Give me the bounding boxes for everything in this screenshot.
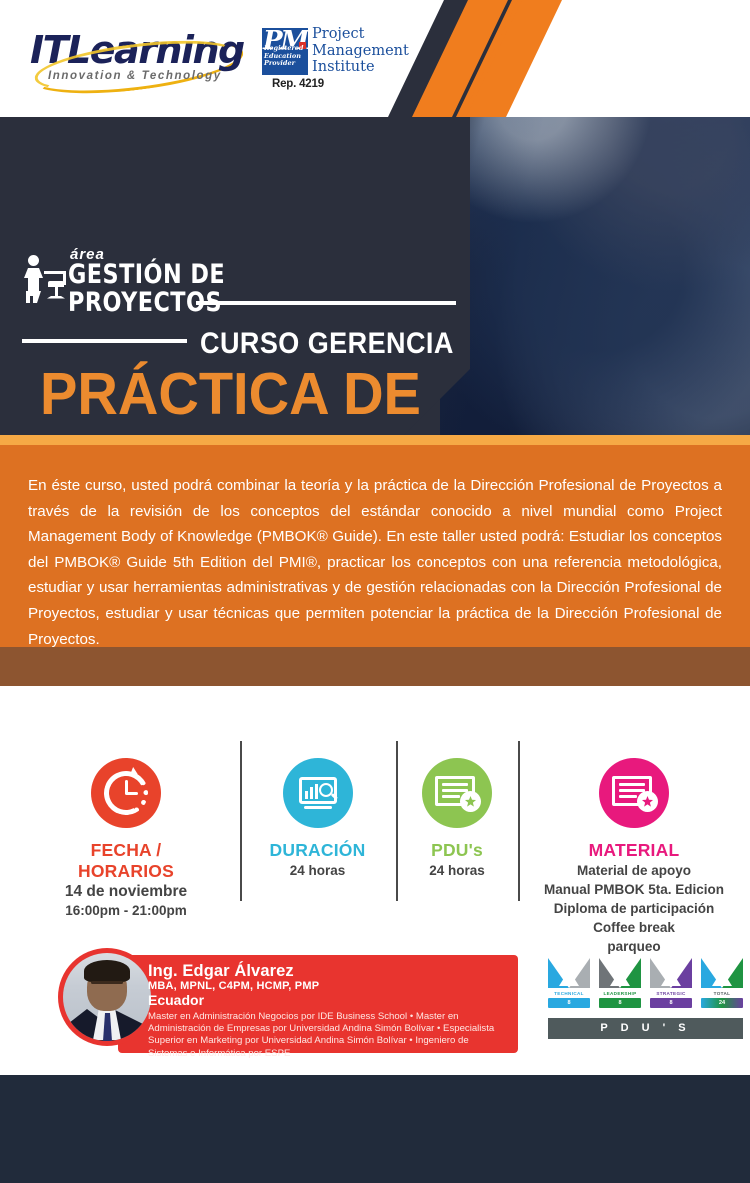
info-title-pdus: PDU's xyxy=(402,840,512,861)
hero-divider-top xyxy=(196,301,456,305)
pdu-badge-total: TOTAL 24 xyxy=(701,958,743,1008)
certificate-icon xyxy=(422,758,492,828)
course-title-line2: PROYECTOS xyxy=(40,427,391,435)
star-icon xyxy=(465,796,476,807)
course-title-line1: PRÁCTICA DE xyxy=(40,364,421,424)
pdu-label-strategic: STRATEGIC xyxy=(650,991,692,996)
info-column-duracion: DURACIÓN 24 horas xyxy=(245,758,390,880)
info-line-duracion: 24 horas xyxy=(245,861,390,880)
info-line-date: 14 de noviembre xyxy=(46,882,206,901)
material-line-3: Diploma de participación xyxy=(525,899,743,918)
pdu-value-strategic: 8 xyxy=(650,998,692,1008)
info-title-fecha: FECHA / HORARIOS xyxy=(46,840,206,882)
area-name: GESTIÓN DE PROYECTOS xyxy=(68,261,225,317)
triangle-icon-total xyxy=(701,958,743,988)
instructor-bio: Master en Administración Negocios por ID… xyxy=(148,1011,500,1060)
description-band: En éste curso, usted podrá combinar la t… xyxy=(0,445,750,647)
pmi-rep-number: Rep. 4219 xyxy=(272,78,324,90)
info-title-material: MATERIAL xyxy=(525,840,743,861)
triangle-icon-leadership xyxy=(599,958,641,988)
material-line-5: parqueo xyxy=(525,937,743,956)
area-name-line1: GESTIÓN DE xyxy=(68,261,225,289)
material-line-4: Coffee break xyxy=(525,918,743,937)
info-column-fecha: FECHA / HORARIOS 14 de noviembre 16:00pm… xyxy=(46,758,206,920)
hero-section: área GESTIÓN DE PROYECTOS CURSO GERENCIA… xyxy=(0,117,750,435)
hero-photo xyxy=(440,117,750,435)
itlearning-logo: ITLearning Innovation & Technology xyxy=(30,26,245,88)
triangle-icon-technical xyxy=(548,958,590,988)
info-row: FECHA / HORARIOS 14 de noviembre 16:00pm… xyxy=(0,686,750,946)
pdu-value-technical: 8 xyxy=(548,998,590,1008)
pdu-label-leadership: LEADERSHIP xyxy=(599,991,641,996)
avatar xyxy=(63,953,151,1041)
info-divider-2 xyxy=(396,741,398,901)
presenter-board-icon xyxy=(22,255,66,305)
info-line-time: 16:00pm - 21:00pm xyxy=(46,901,206,920)
top-logo-bar: ITLearning Innovation & Technology PMI R… xyxy=(0,0,750,117)
info-column-pdus: PDU's 24 horas xyxy=(402,758,512,880)
info-title-duracion: DURACIÓN xyxy=(245,840,390,861)
course-poster: ITLearning Innovation & Technology PMI R… xyxy=(0,0,750,1183)
info-line-pdus: 24 horas xyxy=(402,861,512,880)
pmi-word-management: Management xyxy=(312,43,409,60)
pmi-institute-name: Project Management Institute xyxy=(312,26,409,76)
material-line-1: Material de apoyo xyxy=(525,861,743,880)
star-icon-material xyxy=(642,796,653,807)
band-bottom-accent xyxy=(0,647,750,686)
pdu-value-total: 24 xyxy=(701,998,743,1008)
pmi-word-institute: Institute xyxy=(312,59,409,76)
pmi-rep-logo: PMI Registered Education Provider Projec… xyxy=(262,28,402,96)
pdu-value-leadership: 8 xyxy=(599,998,641,1008)
info-divider-1 xyxy=(240,741,242,901)
hero-divider-left xyxy=(22,339,187,343)
course-kicker: CURSO GERENCIA xyxy=(200,327,454,361)
footer: ITLearning Innovation & Technology Inscr… xyxy=(0,1075,750,1183)
pmi-word-project: Project xyxy=(312,26,409,43)
pdu-label-total: TOTAL xyxy=(701,991,743,996)
triangle-icon-strategic xyxy=(650,958,692,988)
pmi-registered-text: Registered Education Provider xyxy=(264,45,306,68)
itlearning-logo-tagline: Innovation & Technology xyxy=(48,70,222,82)
info-divider-3 xyxy=(518,741,520,901)
pmi-badge-icon: PMI Registered Education Provider xyxy=(262,28,308,75)
band-top-accent xyxy=(0,435,750,445)
instructor-credentials: MBA, MPNL, C4PM, HCMP, PMP xyxy=(148,980,319,992)
material-line-2: Manual PMBOK 5ta. Edicion xyxy=(525,880,743,899)
material-certificate-icon xyxy=(599,758,669,828)
monitor-chart-icon xyxy=(283,758,353,828)
pdu-badge-technical: TECHNICAL 8 xyxy=(548,958,590,1008)
pdu-badges: TECHNICAL 8 LEADERSHIP 8 STRATEGIC 8 xyxy=(548,958,743,1050)
instructor-country: Ecuador xyxy=(148,992,204,1008)
clock-icon xyxy=(91,758,161,828)
info-column-material: MATERIAL Material de apoyo Manual PMBOK … xyxy=(525,758,743,956)
description-text: En éste curso, usted podrá combinar la t… xyxy=(28,473,722,652)
pdu-label-technical: TECHNICAL xyxy=(548,991,590,996)
pdu-badge-strategic: STRATEGIC 8 xyxy=(650,958,692,1008)
pdu-badge-leadership: LEADERSHIP 8 xyxy=(599,958,641,1008)
pdu-bar-label: P D U ' S xyxy=(548,1018,743,1039)
instructor-name: Ing. Edgar Álvarez xyxy=(148,962,294,981)
